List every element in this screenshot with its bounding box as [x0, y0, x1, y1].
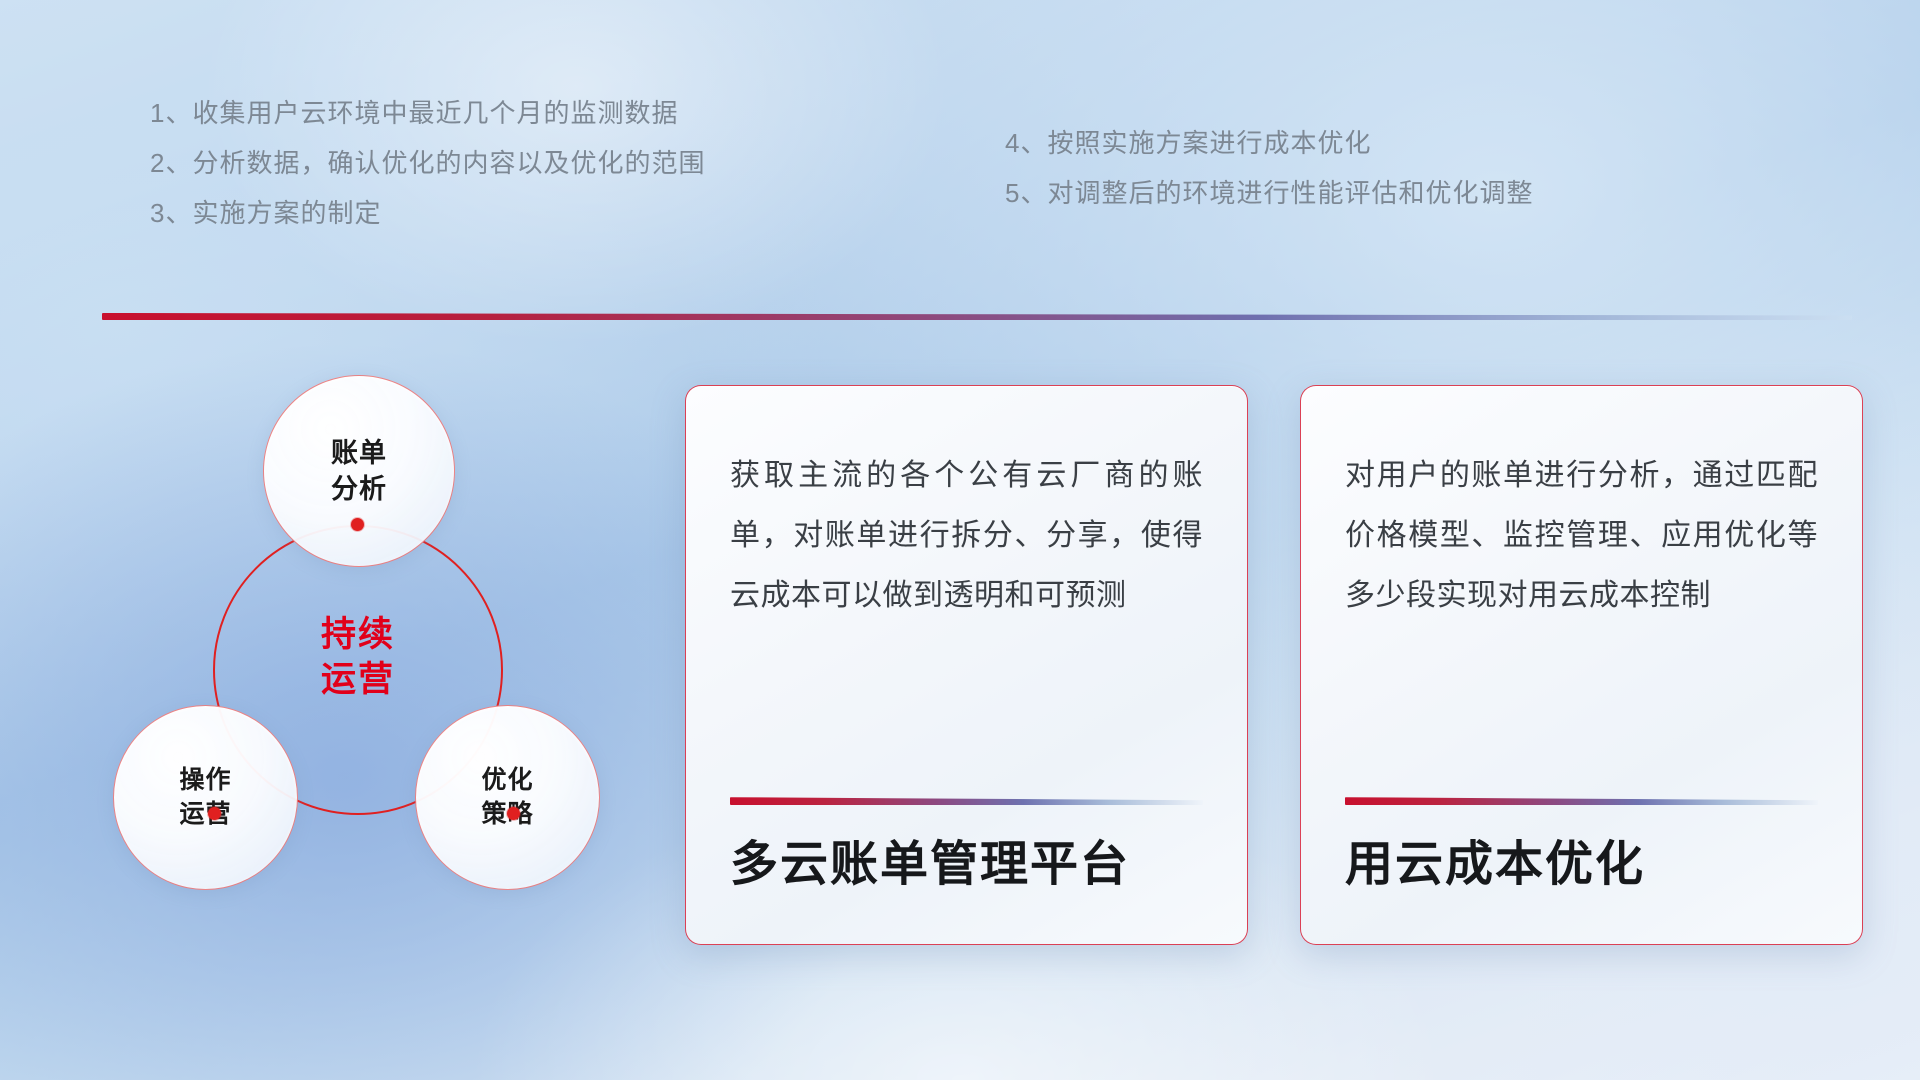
card-accent-rule — [1345, 797, 1818, 805]
connector-dot-right — [507, 807, 520, 820]
content-card-cost-optimization[interactable]: 对用户的账单进行分析，通过匹配价格模型、监控管理、应用优化等多少段实现对用云成本… — [1300, 385, 1863, 945]
diagram-node-operations[interactable]: 操作 运营 — [113, 705, 298, 890]
bullet-item: 1、收集用户云环境中最近几个月的监测数据 — [150, 100, 705, 126]
bullet-item: 4、按照实施方案进行成本优化 — [1005, 130, 1533, 156]
center-label-line2: 运营 — [273, 658, 443, 703]
diagram-node-billing-analysis[interactable]: 账单 分析 — [263, 375, 455, 567]
slide-canvas: 1、收集用户云环境中最近几个月的监测数据 2、分析数据，确认优化的内容以及优化的… — [0, 0, 1920, 1080]
diagram-center-label: 持续 运营 — [273, 613, 443, 703]
circle-diagram: 账单 分析 操作 运营 优化 策略 持续 运营 — [95, 355, 655, 955]
center-label-line1: 持续 — [273, 613, 443, 658]
bullet-item: 5、对调整后的环境进行性能评估和优化调整 — [1005, 180, 1533, 206]
card-body-text: 获取主流的各个公有云厂商的账单，对账单进行拆分、分享，使得云成本可以做到透明和可… — [730, 446, 1203, 626]
node-label-line1: 账单 — [331, 435, 387, 471]
card-title: 多云账单管理平台 — [730, 839, 1203, 892]
content-card-multicloud-billing[interactable]: 获取主流的各个公有云厂商的账单，对账单进行拆分、分享，使得云成本可以做到透明和可… — [685, 385, 1248, 945]
node-label-line2: 运营 — [179, 798, 231, 832]
diagram-node-optimization-strategy[interactable]: 优化 策略 — [415, 705, 600, 890]
card-accent-rule — [730, 797, 1203, 805]
bullet-item: 3、实施方案的制定 — [150, 200, 705, 226]
node-label-line2: 分析 — [331, 471, 387, 507]
node-label-line1: 优化 — [481, 764, 533, 798]
section-divider — [102, 313, 1852, 320]
connector-dot-left — [208, 807, 221, 820]
card-body-text: 对用户的账单进行分析，通过匹配价格模型、监控管理、应用优化等多少段实现对用云成本… — [1345, 446, 1818, 626]
connector-dot-top — [351, 518, 364, 531]
bullet-list-right: 4、按照实施方案进行成本优化 5、对调整后的环境进行性能评估和优化调整 — [1005, 130, 1533, 206]
node-label-line1: 操作 — [179, 764, 231, 798]
card-title: 用云成本优化 — [1345, 839, 1818, 892]
bullet-item: 2、分析数据，确认优化的内容以及优化的范围 — [150, 150, 705, 176]
bullet-list-left: 1、收集用户云环境中最近几个月的监测数据 2、分析数据，确认优化的内容以及优化的… — [150, 100, 705, 226]
